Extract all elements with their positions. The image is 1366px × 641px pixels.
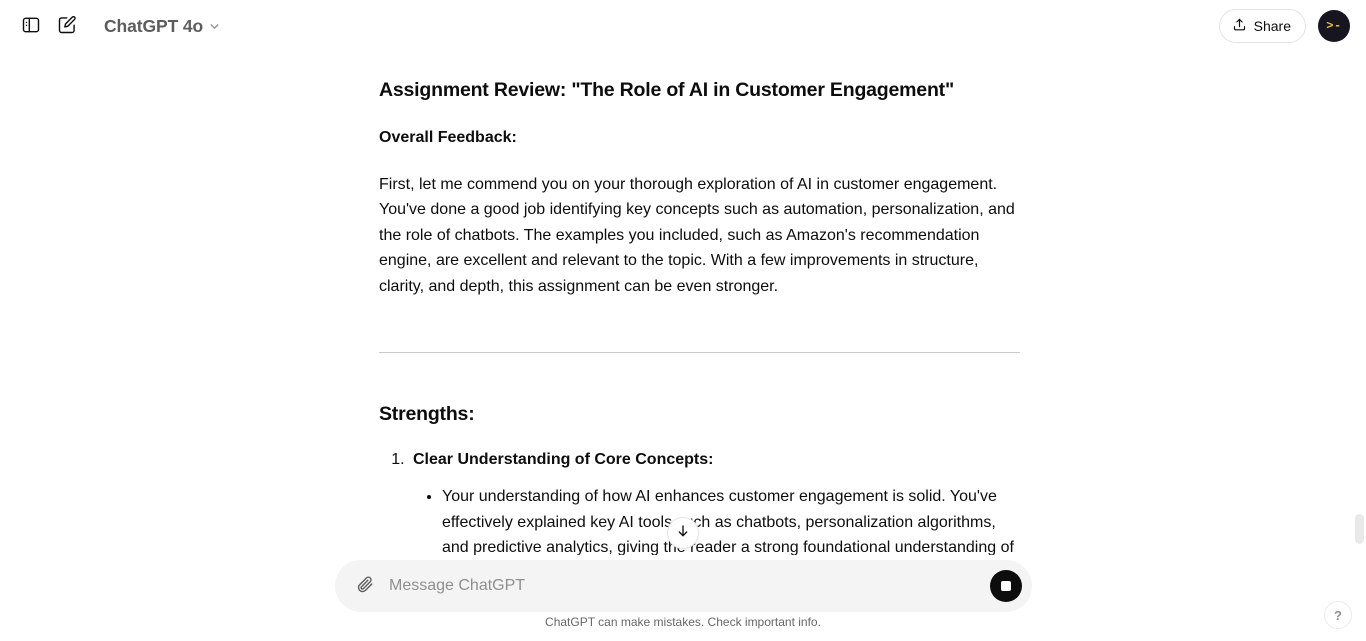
help-button[interactable]: ?: [1324, 601, 1352, 629]
share-upload-icon: [1232, 17, 1247, 35]
sidebar-toggle-icon: [21, 15, 41, 38]
user-avatar[interactable]: >-: [1318, 10, 1350, 42]
sidebar-toggle-button[interactable]: [14, 9, 48, 43]
message-paragraph: First, let me commend you on your thorou…: [379, 172, 1020, 300]
model-selector-label: ChatGPT 4o: [104, 16, 203, 37]
section-divider: [379, 352, 1020, 353]
strengths-heading: Strengths:: [379, 399, 1020, 430]
message-input[interactable]: [379, 569, 990, 603]
question-mark-icon: ?: [1334, 608, 1342, 623]
message-composer[interactable]: [335, 560, 1032, 612]
share-button-label: Share: [1254, 18, 1291, 34]
conversation-scroll-area[interactable]: Assignment Review: "The Role of AI in Cu…: [0, 52, 1366, 641]
paperclip-icon: [356, 575, 375, 597]
new-chat-icon: [57, 15, 77, 38]
message-subheading: Overall Feedback:: [379, 125, 1020, 150]
disclaimer-text: ChatGPT can make mistakes. Check importa…: [0, 615, 1366, 629]
stop-generating-button[interactable]: [990, 570, 1022, 602]
list-item-title: Clear Understanding of Core Concepts:: [413, 451, 713, 468]
message-heading: Assignment Review: "The Role of AI in Cu…: [379, 78, 1020, 103]
chevron-down-icon: [208, 20, 221, 33]
avatar-glyph: >-: [1326, 19, 1341, 33]
new-chat-button[interactable]: [50, 9, 84, 43]
scroll-to-bottom-button[interactable]: [667, 517, 699, 549]
header-right-group: Share >-: [1219, 0, 1350, 52]
chatgpt-app-window: ChatGPT 4o Share: [0, 0, 1366, 641]
header-left-group: ChatGPT 4o: [0, 9, 229, 43]
scrollbar-thumb[interactable]: [1355, 514, 1364, 544]
share-button[interactable]: Share: [1219, 9, 1306, 43]
composer-region: ChatGPT can make mistakes. Check importa…: [0, 555, 1366, 641]
model-selector[interactable]: ChatGPT 4o: [98, 10, 229, 43]
vertical-scrollbar[interactable]: [1353, 52, 1366, 641]
top-header-bar: ChatGPT 4o Share: [0, 0, 1366, 52]
stop-square-icon: [1001, 581, 1011, 591]
attach-file-button[interactable]: [351, 572, 379, 600]
arrow-down-icon: [675, 523, 691, 544]
